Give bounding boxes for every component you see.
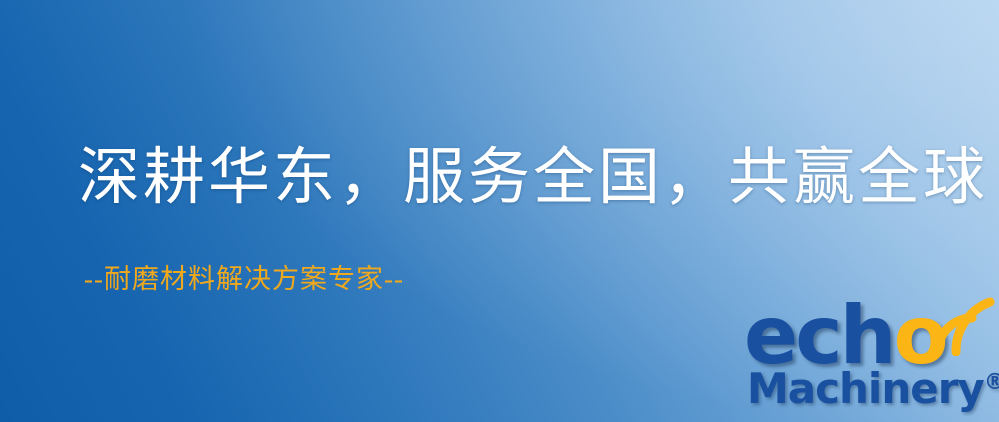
banner-headline: 深耕华东，服务全国，共赢全球: [78, 147, 988, 209]
registered-trademark-icon: ®: [984, 370, 999, 395]
hero-banner: 深耕华东，服务全国，共赢全球 --耐磨材料解决方案专家-- echo Machi…: [0, 0, 999, 422]
company-logo[interactable]: echo Machinery®: [744, 296, 996, 422]
logo-subtext-label: Machinery: [747, 364, 984, 413]
banner-subheadline: --耐磨材料解决方案专家--: [84, 266, 404, 293]
logo-subtext: Machinery®: [747, 368, 999, 410]
signal-waves-icon: [930, 294, 996, 356]
